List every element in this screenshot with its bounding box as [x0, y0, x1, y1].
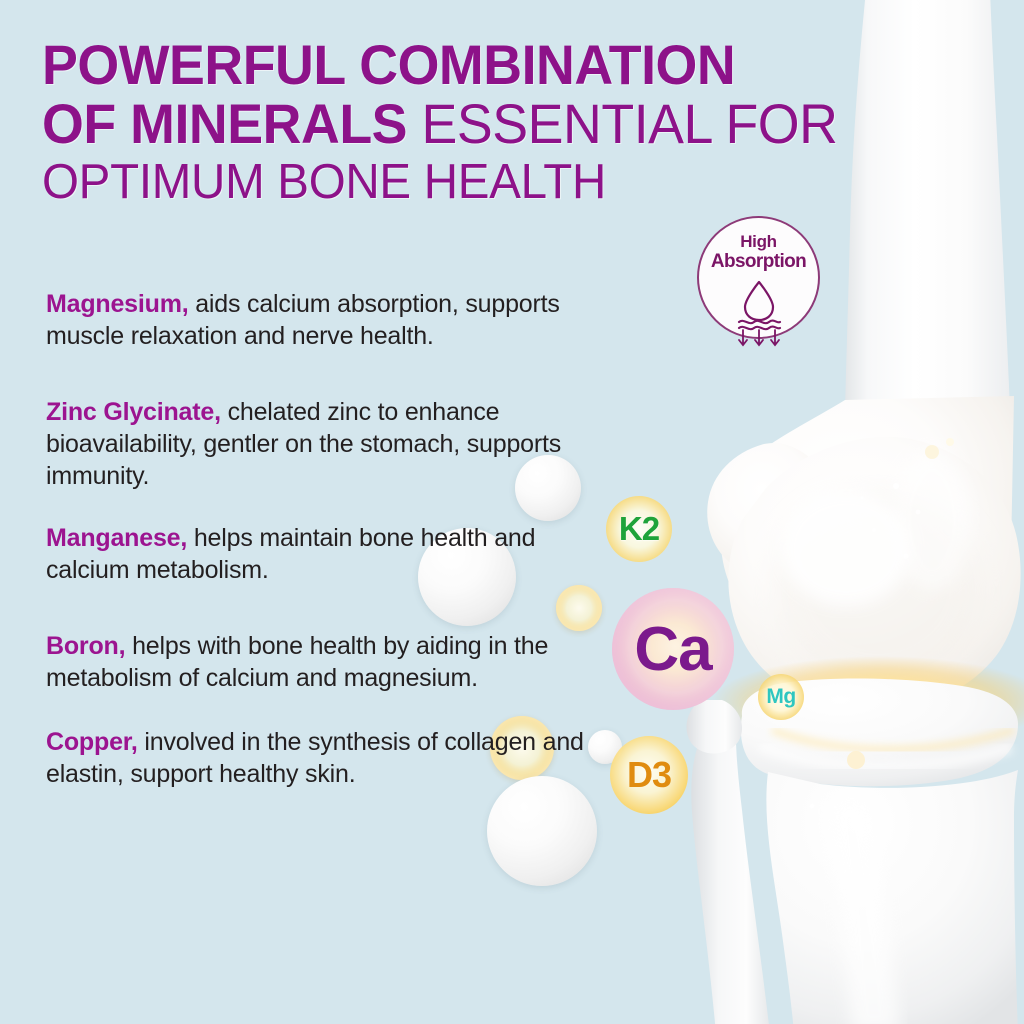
badge-label-line-1: High — [740, 232, 777, 251]
infographic-poster: POWERFUL COMBINATION OF MINERALS ESSENTI… — [0, 0, 1024, 1024]
mineral-bubble-label: D3 — [627, 754, 671, 796]
mineral-name: Copper, — [46, 728, 138, 756]
list-item: Magnesium, aids calcium absorption, supp… — [46, 288, 606, 352]
badge-label: High Absorption — [688, 232, 829, 272]
mineral-name: Boron, — [46, 632, 125, 660]
pill-sphere — [487, 776, 597, 886]
mineral-benefit-list: Magnesium, aids calcium absorption, supp… — [46, 288, 606, 790]
headline: POWERFUL COMBINATION OF MINERALS ESSENTI… — [42, 38, 942, 206]
mineral-bubble-label: Mg — [766, 685, 795, 709]
mineral-bubble-k2: K2 — [606, 496, 672, 562]
mineral-bubble-mg: Mg — [758, 674, 804, 720]
headline-line-2-light: ESSENTIAL FOR — [407, 92, 837, 155]
list-item: Zinc Glycinate, chelated zinc to enhance… — [46, 396, 606, 492]
mineral-bubble-d3: D3 — [610, 736, 688, 814]
downward-arrows-icon — [730, 329, 788, 356]
mineral-bubble-ca: Ca — [612, 588, 734, 710]
mineral-name: Magnesium, — [46, 290, 188, 318]
list-item: Boron, helps with bone health by aiding … — [46, 630, 606, 694]
list-item: Copper, involved in the synthesis of col… — [46, 726, 606, 790]
mineral-bubble-label: K2 — [619, 510, 659, 548]
headline-line-2: OF MINERALS ESSENTIAL FOR — [42, 97, 906, 152]
mineral-bubble-label: Ca — [634, 614, 711, 685]
badge-label-line-2: Absorption — [688, 251, 829, 272]
headline-line-1: POWERFUL COMBINATION — [42, 38, 906, 93]
headline-line-2-strong: OF MINERALS — [42, 92, 407, 155]
high-absorption-badge: High Absorption — [697, 216, 820, 339]
headline-line-3: OPTIMUM BONE HEALTH — [42, 158, 915, 206]
mineral-name: Zinc Glycinate, — [46, 398, 221, 426]
list-item: Manganese, helps maintain bone health an… — [46, 522, 606, 586]
mineral-name: Manganese, — [46, 524, 187, 552]
